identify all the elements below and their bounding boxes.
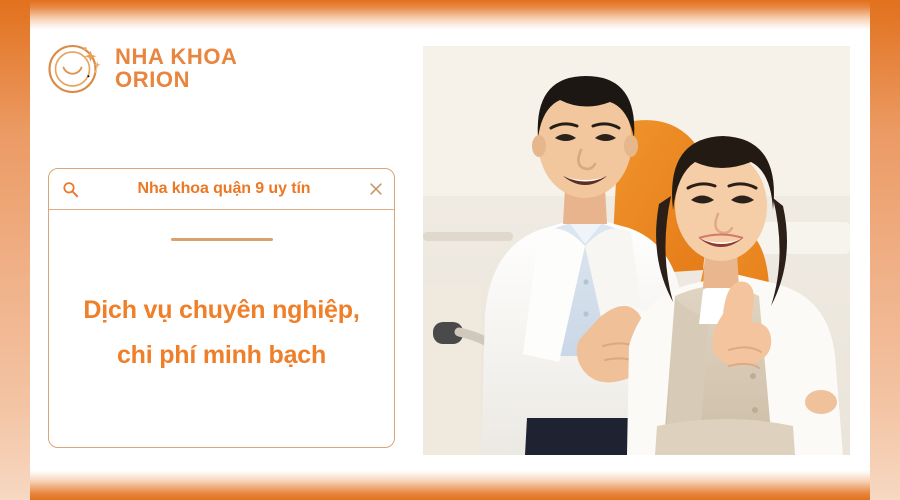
card-body: Dịch vụ chuyên nghiệp, chi phí minh bạch: [49, 210, 394, 447]
brand-line-2: ORION: [115, 68, 238, 91]
headline-line-1: Dịch vụ chuyên nghiệp,: [64, 288, 379, 333]
poster-content: NHA KHOA ORION Nha khoa quận 9 uy tín: [30, 30, 870, 470]
frame-top-accent: [0, 0, 900, 30]
poster-canvas: NHA KHOA ORION Nha khoa quận 9 uy tín: [0, 0, 900, 500]
brand-line-1: NHA KHOA: [115, 45, 238, 68]
frame-left-accent: [0, 0, 30, 500]
brand-wordmark: NHA KHOA ORION: [115, 45, 238, 92]
close-icon[interactable]: [369, 182, 383, 196]
search-input[interactable]: Nha khoa quận 9 uy tín: [87, 180, 361, 198]
hero-photo: [423, 46, 850, 455]
headline-line-2: chi phí minh bạch: [64, 333, 379, 378]
orion-circle-smile-icon: [45, 38, 105, 98]
headline: Dịch vụ chuyên nghiệp, chi phí minh bạch: [64, 288, 379, 377]
brand-logo[interactable]: NHA KHOA ORION: [45, 38, 238, 98]
search-card: Nha khoa quận 9 uy tín Dịch vụ chuyên ng…: [48, 168, 395, 448]
search-icon[interactable]: [62, 181, 79, 198]
frame-right-accent: [870, 0, 900, 500]
frame-bottom-accent: [0, 470, 900, 500]
search-bar[interactable]: Nha khoa quận 9 uy tín: [49, 169, 394, 210]
divider: [171, 238, 273, 241]
